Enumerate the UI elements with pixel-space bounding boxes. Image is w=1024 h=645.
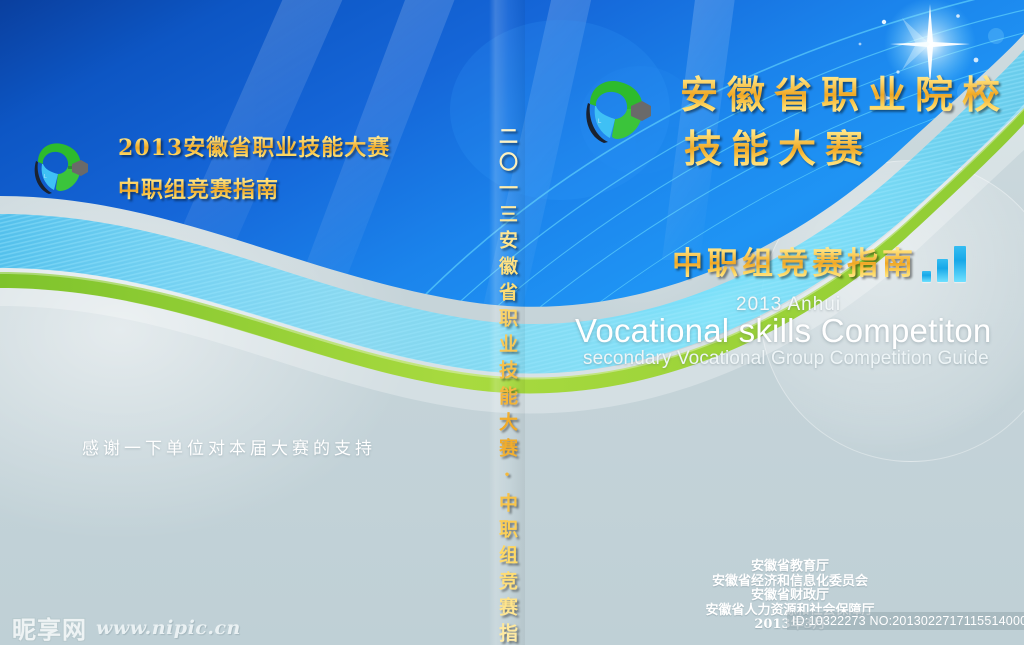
bar-chart-bar-3 xyxy=(954,246,966,282)
organization-line: 安徽省经济和信息化委员会 xyxy=(610,575,970,590)
site-watermark-name: 昵享网 xyxy=(12,610,87,645)
thanks-text: 感谢一下单位对本届大赛的支持 xyxy=(82,434,376,459)
front-cover-subtitle: 中职组竞赛指南 xyxy=(672,238,917,283)
bar-chart-icon xyxy=(922,244,968,282)
front-cover-title-line1: 安徽省职业院校 xyxy=(680,64,1009,119)
front-cover-title-line2: 技能大赛 xyxy=(684,118,872,173)
svg-text:L: L xyxy=(44,174,47,180)
bar-chart-bar-2 xyxy=(937,259,948,282)
image-id-badge: ID:10322273 NO:20130227171155140000 xyxy=(787,612,1024,630)
cover-artwork-canvas: L 2013安徽省职业技能大赛 中职组竞赛指南 感谢一下单位对本届大赛的支持 二… xyxy=(0,0,1024,645)
organization-line: 安徽省财政厅 xyxy=(610,589,970,604)
back-cover-title-line1: 2013安徽省职业技能大赛 xyxy=(118,130,390,162)
back-cover-title-line2: 中职组竞赛指南 xyxy=(118,172,279,204)
site-watermark-url: www.nipic.cn xyxy=(96,617,241,639)
english-subtitle: secondary Vocational Group Competition G… xyxy=(583,348,989,370)
english-main-title: Vocational skills Competiton xyxy=(575,312,991,350)
helmet-emblem-icon-back: L xyxy=(28,136,90,198)
site-watermark: 昵享网 www.nipic.cn xyxy=(12,610,241,645)
organization-line: 安徽省教育厅 xyxy=(610,560,970,575)
spine-title-text: 二〇一三安徽省职业技能大赛·中职组竞赛指南 xyxy=(495,126,521,645)
bar-chart-bar-1 xyxy=(922,271,931,282)
helmet-emblem-icon-front: L xyxy=(578,72,654,148)
